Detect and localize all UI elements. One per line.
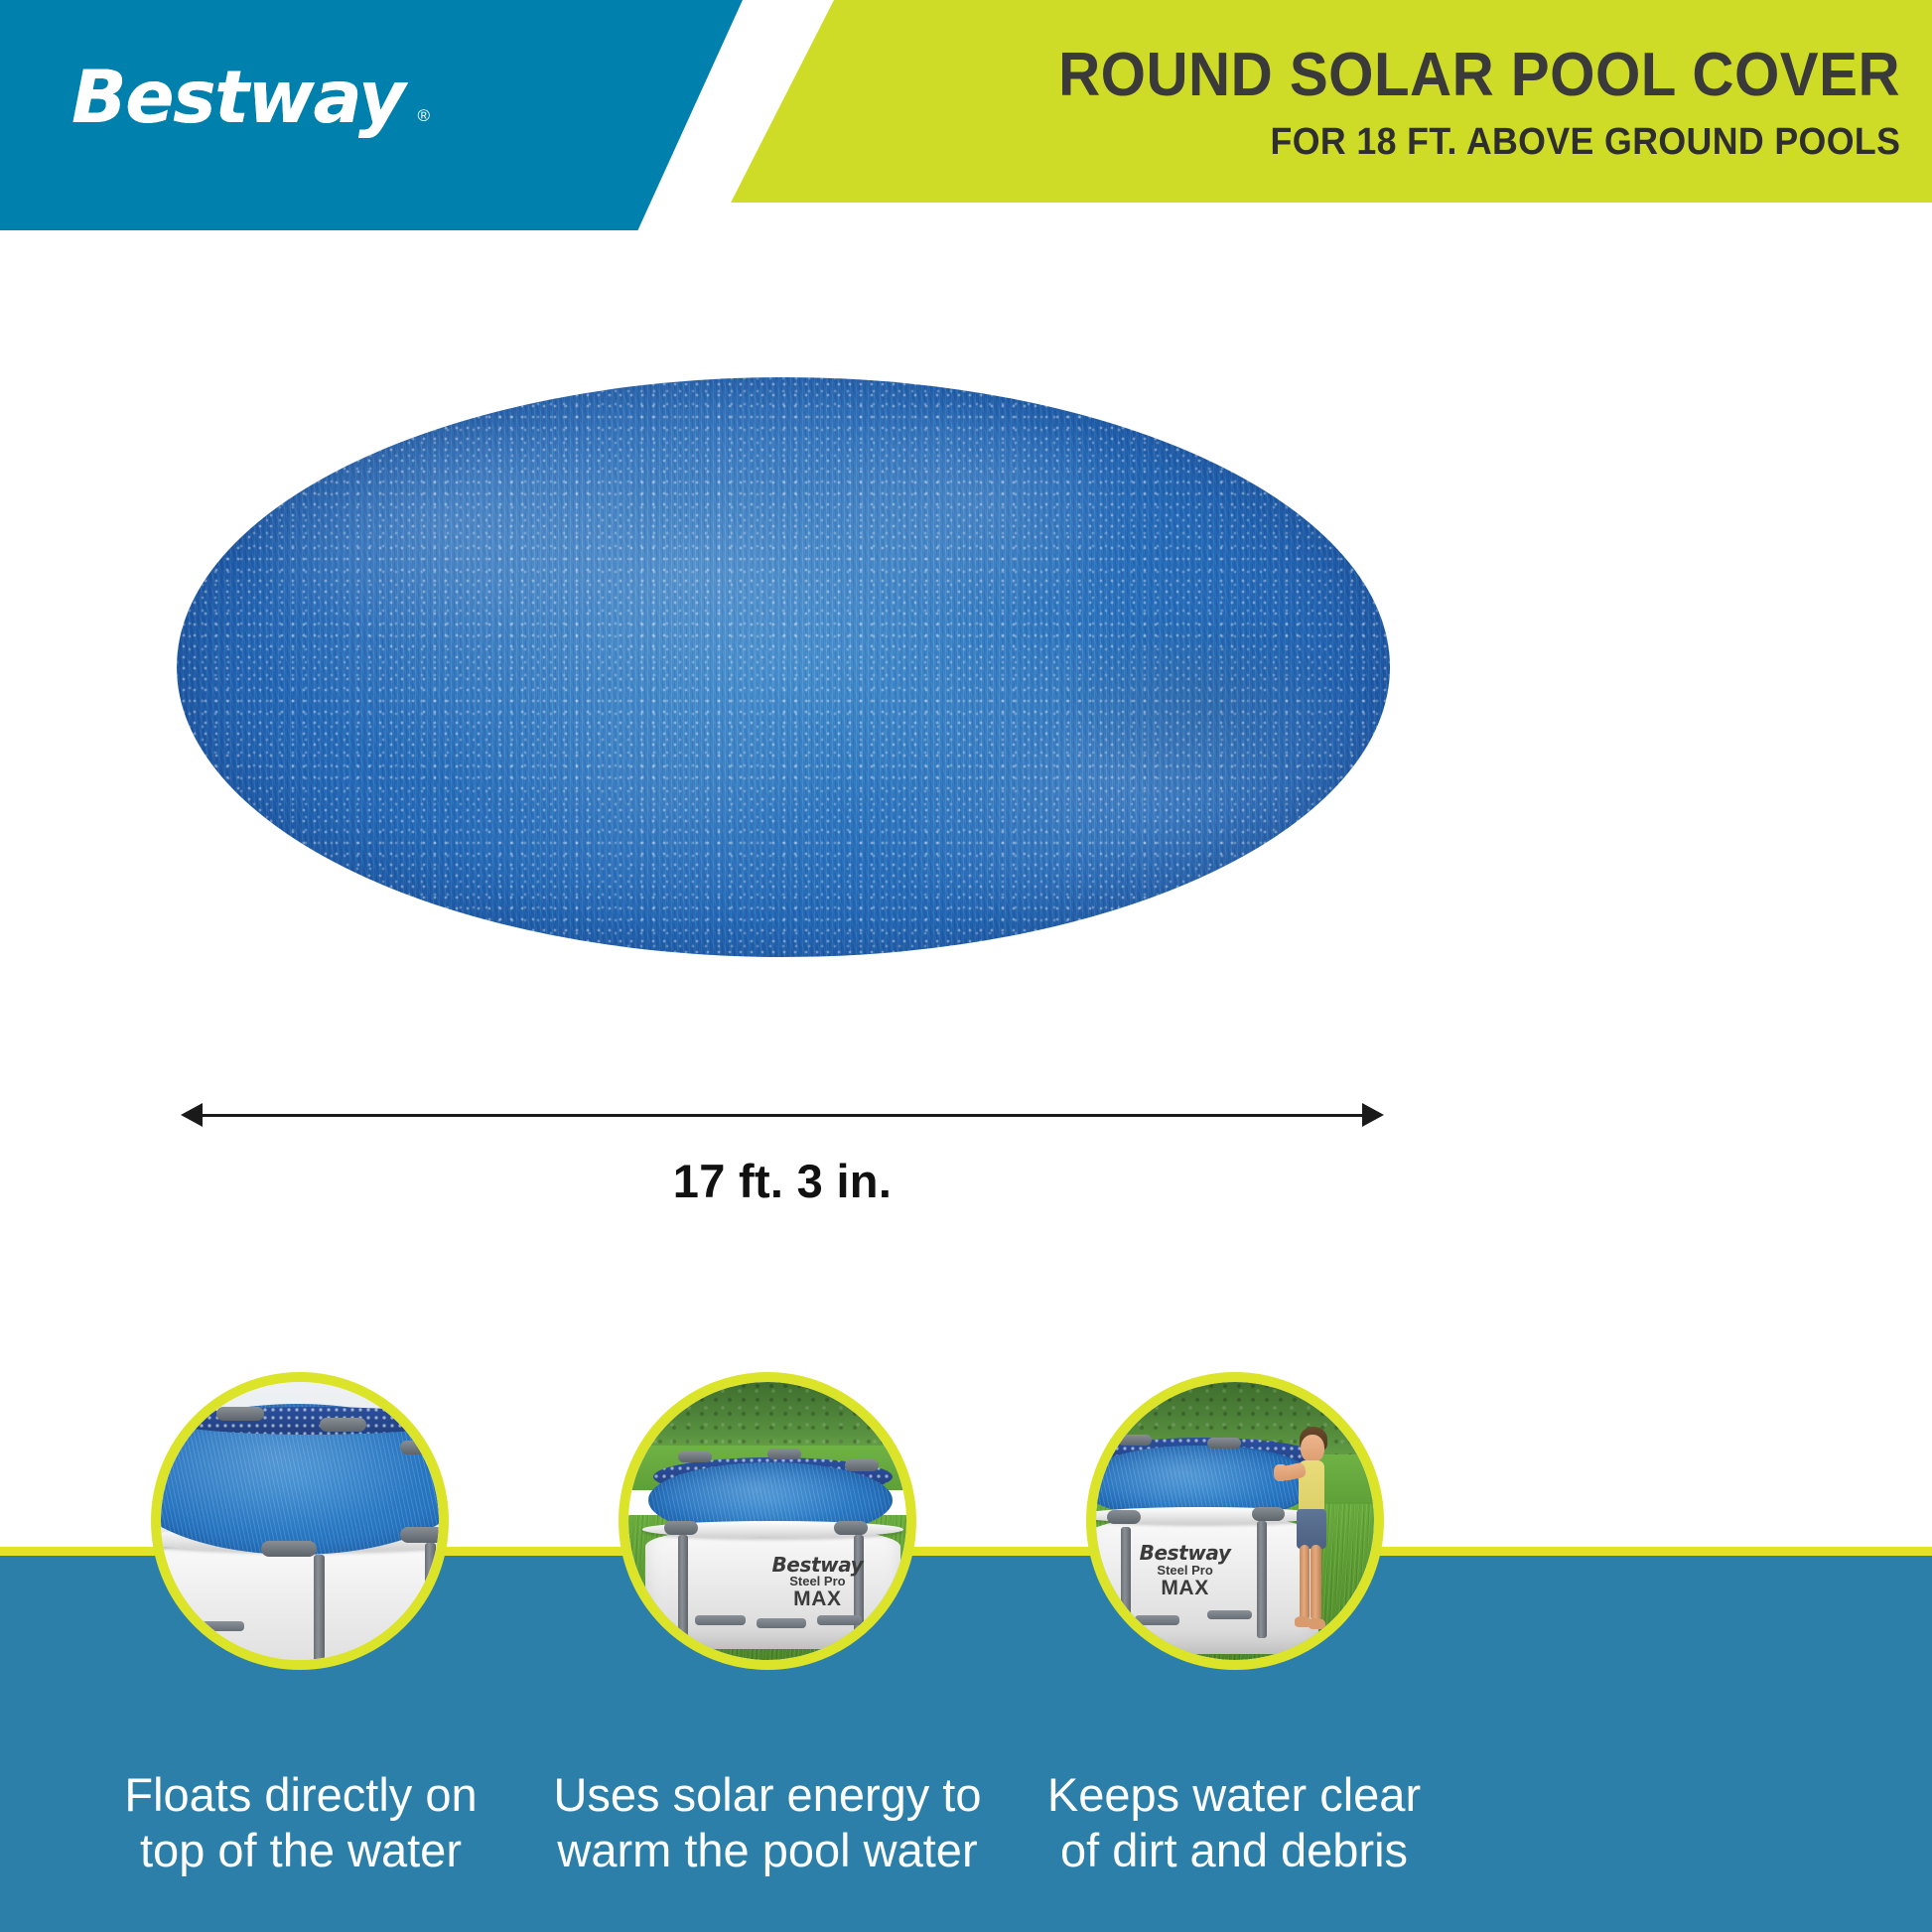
person-leg-right bbox=[1311, 1545, 1320, 1621]
feature-image-3: Bestway Steel Pro MAX bbox=[1096, 1382, 1374, 1660]
person-hand bbox=[1274, 1464, 1287, 1481]
hedge-background-2 bbox=[628, 1382, 906, 1454]
pool-clamp-3b bbox=[1207, 1438, 1241, 1449]
pool-leg-1b bbox=[425, 1543, 436, 1660]
pool-clamp-1a bbox=[216, 1407, 264, 1421]
pool-leg-3a bbox=[1257, 1521, 1267, 1638]
brand-max-3: MAX bbox=[1118, 1578, 1251, 1599]
page-title: ROUND SOLAR POOL COVER bbox=[1058, 40, 1900, 110]
feature-circle-floats bbox=[151, 1372, 449, 1670]
pool-clamp-3c bbox=[1107, 1510, 1141, 1524]
pool-band-3b bbox=[1207, 1610, 1252, 1620]
brand-max-2: MAX bbox=[740, 1588, 896, 1610]
brand-steelpro-3: Steel Pro bbox=[1118, 1564, 1251, 1578]
pool-band-2a bbox=[695, 1615, 745, 1625]
person-shorts bbox=[1297, 1509, 1326, 1549]
feature-circle-solar-energy: Bestway Steel Pro MAX bbox=[619, 1372, 916, 1670]
product-marketing-image: Bestway ® ROUND SOLAR POOL COVER FOR 18 … bbox=[0, 0, 1932, 1932]
brand-bestway-3: Bestway bbox=[1118, 1543, 1251, 1564]
pool-clamp-1d bbox=[261, 1541, 317, 1558]
feature-caption-2: Uses solar energy to warm the pool water bbox=[534, 1767, 1001, 1879]
feature-image-1 bbox=[161, 1382, 439, 1660]
pool-leg-2a bbox=[678, 1535, 688, 1640]
registered-trademark-icon: ® bbox=[418, 106, 431, 126]
person-head bbox=[1301, 1435, 1324, 1462]
pool-band-2b bbox=[757, 1618, 806, 1628]
pool-brand-label-2: Bestway Steel Pro MAX bbox=[740, 1555, 896, 1610]
pool-band-1a bbox=[183, 1621, 244, 1631]
pool-clamp-1c bbox=[400, 1441, 439, 1454]
feature-circle-keeps-clear: Bestway Steel Pro MAX bbox=[1086, 1372, 1384, 1670]
feature-caption-1: Floats directly on top of the water bbox=[68, 1767, 534, 1879]
pool-brand-label-3: Bestway Steel Pro MAX bbox=[1118, 1543, 1251, 1598]
person-leg-left bbox=[1300, 1545, 1310, 1621]
feature-ring-1 bbox=[151, 1372, 449, 1670]
pool-clamp-2a bbox=[678, 1451, 712, 1462]
hedge-texture-2 bbox=[628, 1382, 906, 1454]
pool-clamp-1b bbox=[320, 1418, 367, 1432]
pool-band-2c bbox=[817, 1615, 862, 1625]
hero-product-section: 17 ft. 3 in. bbox=[0, 230, 1932, 1312]
pool-clamp-1e bbox=[400, 1527, 439, 1544]
feature-caption-1-line2: top of the water bbox=[68, 1823, 534, 1878]
pool-clamp-2d bbox=[664, 1521, 698, 1535]
header-banner: Bestway ® ROUND SOLAR POOL COVER FOR 18 … bbox=[0, 0, 1932, 230]
feature-caption-2-line2: warm the pool water bbox=[534, 1823, 1001, 1878]
person-foot-right bbox=[1309, 1618, 1324, 1629]
feature-caption-3-line1: Keeps water clear bbox=[1001, 1767, 1467, 1823]
brand-bestway-2: Bestway bbox=[740, 1555, 896, 1576]
person-figure bbox=[1271, 1427, 1365, 1638]
feature-caption-1-line1: Floats directly on bbox=[68, 1767, 534, 1823]
feature-caption-3-line2: of dirt and debris bbox=[1001, 1823, 1467, 1878]
arrow-right-icon bbox=[1362, 1103, 1384, 1127]
bestway-logo: Bestway ® bbox=[71, 62, 404, 134]
bestway-logo-text: Bestway bbox=[71, 62, 404, 134]
brand-steelpro-2: Steel Pro bbox=[740, 1575, 896, 1588]
pool-band-3a bbox=[1135, 1615, 1179, 1625]
feature-caption-2-line1: Uses solar energy to bbox=[534, 1767, 1001, 1823]
feature-caption-3: Keeps water clear of dirt and debris bbox=[1001, 1767, 1467, 1879]
dimension-label: 17 ft. 3 in. bbox=[0, 1154, 1565, 1208]
pool-clamp-3a bbox=[1118, 1435, 1152, 1446]
feature-ring-2: Bestway Steel Pro MAX bbox=[619, 1372, 916, 1670]
dimension-line bbox=[191, 1114, 1374, 1117]
pool-clamp-2c bbox=[845, 1459, 879, 1470]
dimension-arrow bbox=[181, 1102, 1384, 1128]
pool-clamp-2b bbox=[767, 1449, 801, 1459]
pool-clamp-2e bbox=[834, 1521, 868, 1535]
cover-mottle-texture bbox=[177, 377, 1390, 957]
feature-image-2: Bestway Steel Pro MAX bbox=[628, 1382, 906, 1660]
solar-cover-product-image bbox=[177, 377, 1390, 957]
page-subtitle: FOR 18 FT. ABOVE GROUND POOLS bbox=[1270, 121, 1900, 164]
feature-ring-3: Bestway Steel Pro MAX bbox=[1086, 1372, 1384, 1670]
pool-leg-1a bbox=[314, 1555, 325, 1660]
